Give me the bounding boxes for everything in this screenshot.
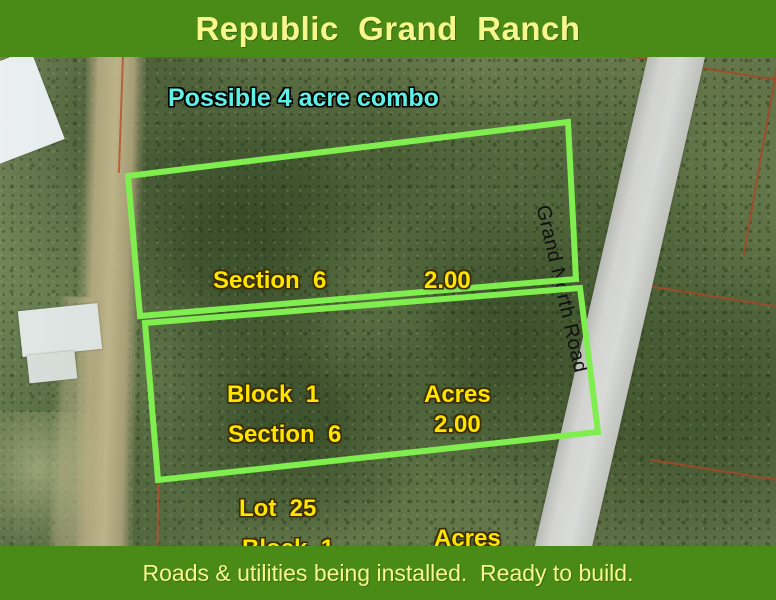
building-roof [27, 351, 78, 384]
aerial-photo-background: Grand North Road [0, 57, 776, 546]
building-roof [18, 303, 102, 357]
parcel-section-line: Section 6 [228, 416, 341, 454]
listing-map-graphic: Grand North Road Possible 4 acre combo S… [0, 0, 776, 600]
land-clearing [0, 412, 110, 546]
survey-line [156, 452, 160, 546]
survey-line [743, 58, 776, 255]
parcel-section-line: Section 6 [213, 262, 326, 300]
building-roof [0, 57, 65, 165]
acreage-value: 2.00 [424, 262, 491, 300]
page-title: Republic Grand Ranch [195, 10, 580, 48]
survey-line [651, 459, 776, 481]
grand-north-road-surface [508, 57, 720, 546]
footer-banner: Roads & utilities being installed. Ready… [0, 546, 776, 600]
combo-callout-text: Possible 4 acre combo [168, 84, 439, 113]
acreage-value: 2.00 [434, 406, 501, 444]
survey-line [637, 283, 776, 308]
footer-tagline: Roads & utilities being installed. Ready… [143, 560, 634, 587]
header-banner: Republic Grand Ranch [0, 0, 776, 57]
